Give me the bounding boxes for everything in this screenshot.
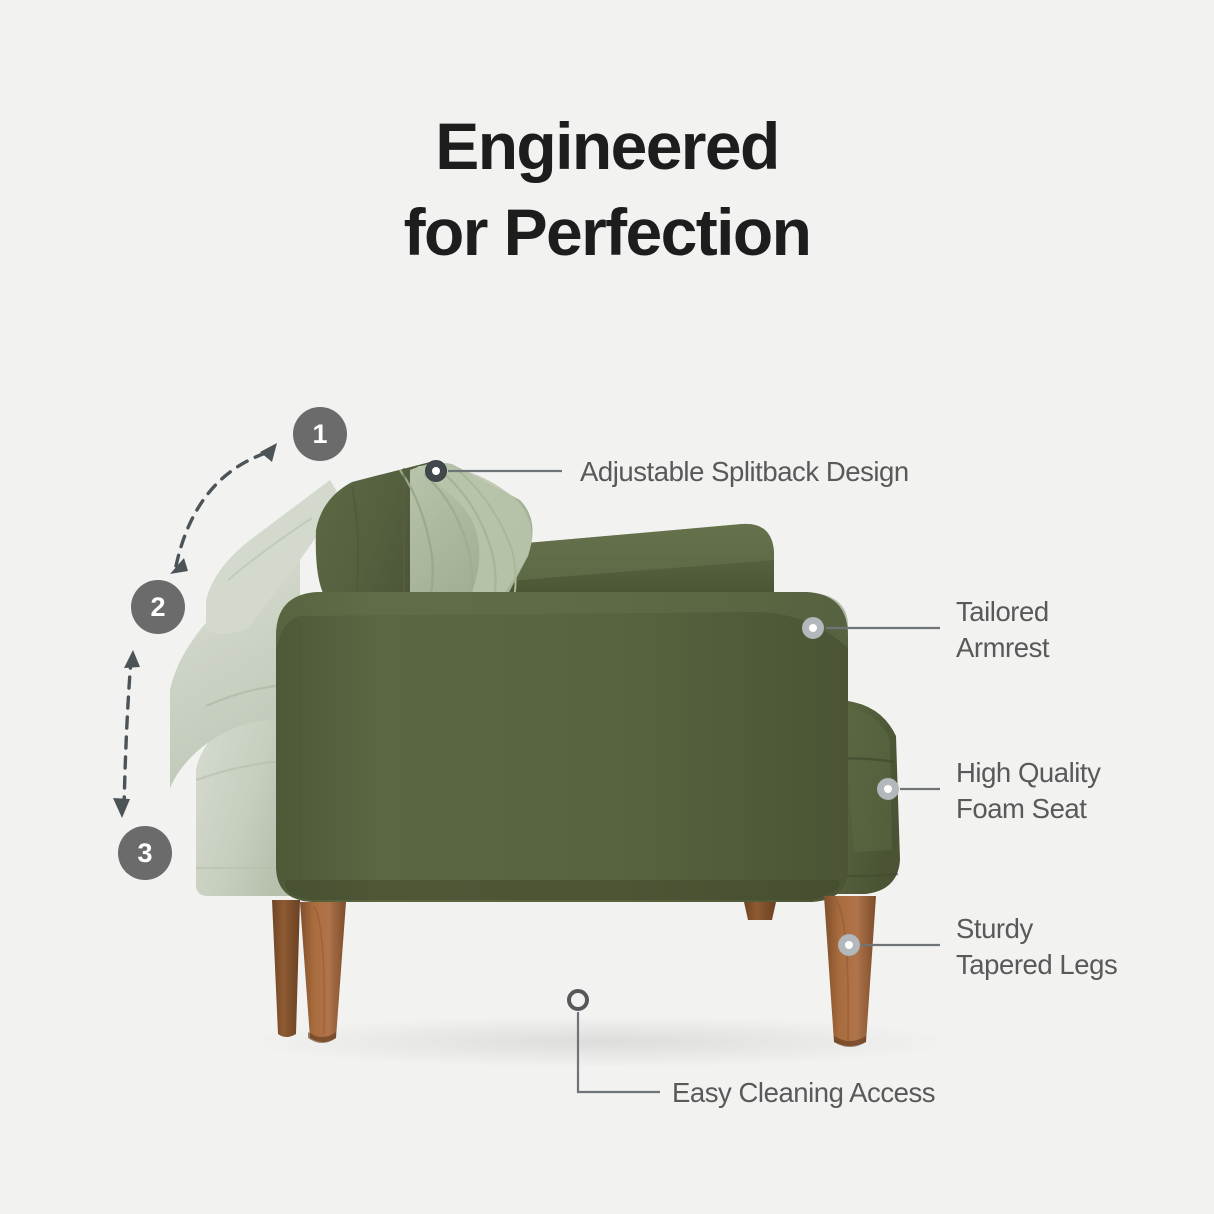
callout-dot-foam-seat[interactable] (877, 778, 899, 800)
step-badge-2: 2 (131, 580, 185, 634)
leg-back-left (272, 900, 300, 1037)
callout-label-armrest: Tailored Armrest (956, 594, 1049, 666)
tailored-armrest-panel (276, 592, 848, 902)
callout-label-legs: Sturdy Tapered Legs (956, 911, 1117, 983)
splitback-cushions (316, 462, 533, 604)
infographic-canvas: Engineered for Perfection (0, 0, 1214, 1214)
callout-dot-splitback[interactable] (425, 460, 447, 482)
callout-dot-legs[interactable] (838, 934, 860, 956)
leg-back-mid (744, 902, 776, 920)
callout-label-cleaning: Easy Cleaning Access (672, 1075, 935, 1111)
step-badge-1: 1 (293, 407, 347, 461)
callout-dot-armrest[interactable] (802, 617, 824, 639)
callout-label-foam-seat: High Quality Foam Seat (956, 755, 1100, 827)
step-badge-3: 3 (118, 826, 172, 880)
callout-label-splitback: Adjustable Splitback Design (580, 454, 909, 490)
callout-dot-cleaning[interactable] (567, 989, 589, 1011)
